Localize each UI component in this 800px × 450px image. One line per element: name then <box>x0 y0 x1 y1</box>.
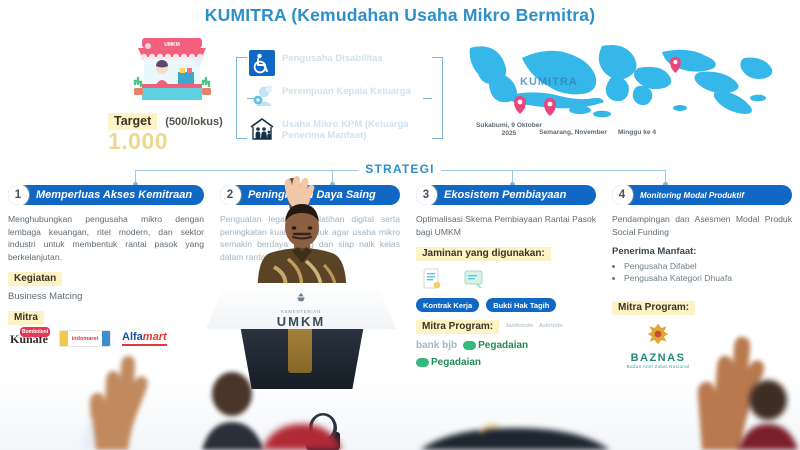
audience-person-right <box>736 380 800 450</box>
pegadaian-logo-1: Pegadaian <box>463 340 528 351</box>
beneficiary-item-disability: Pengusaha Disabilitas <box>249 50 449 78</box>
pegadaian-logo-2: Pegadaian <box>416 357 481 368</box>
pegadaian-mark-2 <box>416 358 429 367</box>
ministry-emblem-icon <box>293 291 309 304</box>
jaminan-icons <box>416 267 596 296</box>
strategy-heading-pill-3: 3 Ekosistem Pembiayaan <box>416 185 596 205</box>
beneficiary-item-woman-head: Perempuan Kepala Keluarga <box>249 83 449 111</box>
jaminan-label: Jaminan yang digunakan: <box>416 247 551 261</box>
connector-drop-4 <box>665 170 666 185</box>
chip-bukti-hak-tagih: Bukti Hak Tagih <box>486 298 556 312</box>
strategy-number-4: 4 <box>612 185 634 205</box>
kunafe-tag: Bomboloni <box>20 327 50 337</box>
target-note: (500/lokus) <box>165 116 222 128</box>
jaminan-chips: Kontrak Kerja Bukti Hak Tagih <box>416 298 596 312</box>
strategy-column-3: 3 Ekosistem Pembiayaan Optimalisasi Skem… <box>408 185 604 370</box>
askrindo-logo: Askrindo <box>539 323 563 329</box>
beneficiary-list: Pengusaha Disabilitas Perempuan Kepala K… <box>249 50 449 149</box>
beneficiary-label: Perempuan Kepala Keluarga <box>282 83 411 97</box>
podium-logo: KEMENTERIAN UMKM <box>206 291 396 329</box>
indomaret-logo: indomaret <box>59 330 111 347</box>
indonesia-map: KUMITRA Sukabumi, 9 Oktober 2025 Semaran… <box>452 38 782 148</box>
kunafe-logo: Bomboloni Kunafe <box>10 334 48 344</box>
strategy-heading-pill-1: 1 Memperluas Akses Kemitraan <box>8 185 204 205</box>
connector-drop-3 <box>512 170 513 185</box>
beneficiary-label: Usaha Mikro KPM (Keluarga Penerima Manfa… <box>282 116 449 141</box>
beneficiary-item-kpm: Usaha Mikro KPM (Keluarga Penerima Manfa… <box>249 116 449 144</box>
kegiatan-label: Kegiatan <box>8 272 62 286</box>
alfamart-logo-text-italic: mart <box>143 331 167 343</box>
strategi-divider: STRATEGI <box>0 162 800 184</box>
penerima-item-difabel: Pengusaha Difabel <box>624 260 792 272</box>
strategi-label: STRATEGI <box>358 162 441 176</box>
mitra-label-3: Mitra Program: <box>416 320 499 334</box>
kegiatan-value: Business Matcing <box>8 291 204 302</box>
map-pins <box>452 38 782 130</box>
audience-person-center <box>262 392 342 450</box>
strategy-number-3: 3 <box>416 185 438 205</box>
podium-umkm-text: UMKM <box>206 314 396 329</box>
garuda-emblem-icon <box>641 321 675 347</box>
strategy-number-1: 1 <box>8 185 30 205</box>
connector-drop-1 <box>135 170 136 185</box>
audience-row-front <box>420 412 610 450</box>
bank-bjb-logo: bank bjb <box>416 340 457 351</box>
mitra-program-row-3: Mitra Program: Jamkrindo Askrindo <box>416 318 596 334</box>
chip-kontrak-kerja: Kontrak Kerja <box>416 298 479 312</box>
woman-head-of-family-icon <box>249 83 275 109</box>
contract-document-icon <box>420 267 444 296</box>
presentation-stage-scene: KUMITRA (Kemudahan Usaha Mikro Bermitra)… <box>0 0 800 450</box>
pegadaian-text-1: Pegadaian <box>478 340 528 351</box>
svg-text:UMKM: UMKM <box>164 42 180 48</box>
pegadaian-text-2: Pegadaian <box>431 357 481 368</box>
penerima-manfaat-list: Pengusaha Difabel Pengusaha Kategori Dhu… <box>624 260 792 284</box>
map-pin-label-semarang: Semarang, November <box>537 129 609 137</box>
bracket-left <box>236 57 247 139</box>
jamkrindo-logo: Jamkrindo <box>505 323 533 329</box>
wheelchair-accessible-icon <box>249 50 275 76</box>
strategy-body-1: Menghubungkan pengusaha mikro dengan lem… <box>8 213 204 263</box>
bracket-right <box>432 57 443 139</box>
strategy-heading-text-4: Monitoring Modal Produktif <box>640 191 744 200</box>
partner-logos-column-1: Bomboloni Kunafe indomaret Alfamart <box>10 330 167 347</box>
invoice-receipt-icon <box>462 267 486 296</box>
umkm-booth-illustration: UMKM <box>128 32 216 112</box>
pegadaian-mark-1 <box>463 341 476 350</box>
audience-hand-left <box>58 356 150 450</box>
strategy-heading-text-1: Memperluas Akses Kemitraan <box>36 189 192 201</box>
mitra-label-4: Mitra Program: <box>612 301 695 315</box>
penerima-item-dhuafa: Pengusaha Kategori Dhuafa <box>624 272 792 284</box>
presentation-slide: KUMITRA (Kemudahan Usaha Mikro Bermitra)… <box>0 0 800 372</box>
map-pin-label-sukabumi: Sukabumi, 9 Oktober 2025 <box>474 122 544 137</box>
target-number: 1.000 <box>108 128 168 155</box>
strategy-column-1: 1 Memperluas Akses Kemitraan Menghubungk… <box>0 185 212 370</box>
alfamart-logo: Alfamart <box>122 331 167 346</box>
audience-person-center-left <box>198 372 268 450</box>
partner-logos-column-3: bank bjb Pegadaian Pegadaian <box>416 340 596 368</box>
indomaret-logo-text: indomaret <box>72 336 99 342</box>
strategy-body-3: Optimalisasi Skema Pembiayaan Rantai Pas… <box>416 213 596 238</box>
penerima-manfaat-label: Penerima Manfaat: <box>612 246 792 257</box>
beneficiary-label: Pengusaha Disabilitas <box>282 50 383 64</box>
strategy-heading-text-3: Ekosistem Pembiayaan <box>444 189 566 201</box>
strategy-heading-pill-4: 4 Monitoring Modal Produktif <box>612 185 792 205</box>
alfamart-logo-text: Alfa <box>122 331 143 343</box>
strategy-body-4: Pendampingan dan Asesmen Modal Produk So… <box>612 213 792 238</box>
map-pin-label-minggu: Minggu ke 4 <box>600 129 674 137</box>
slide-title: KUMITRA (Kemudahan Usaha Mikro Bermitra) <box>0 5 800 26</box>
family-house-icon <box>249 116 275 142</box>
mitra-label-1: Mitra <box>8 311 44 325</box>
